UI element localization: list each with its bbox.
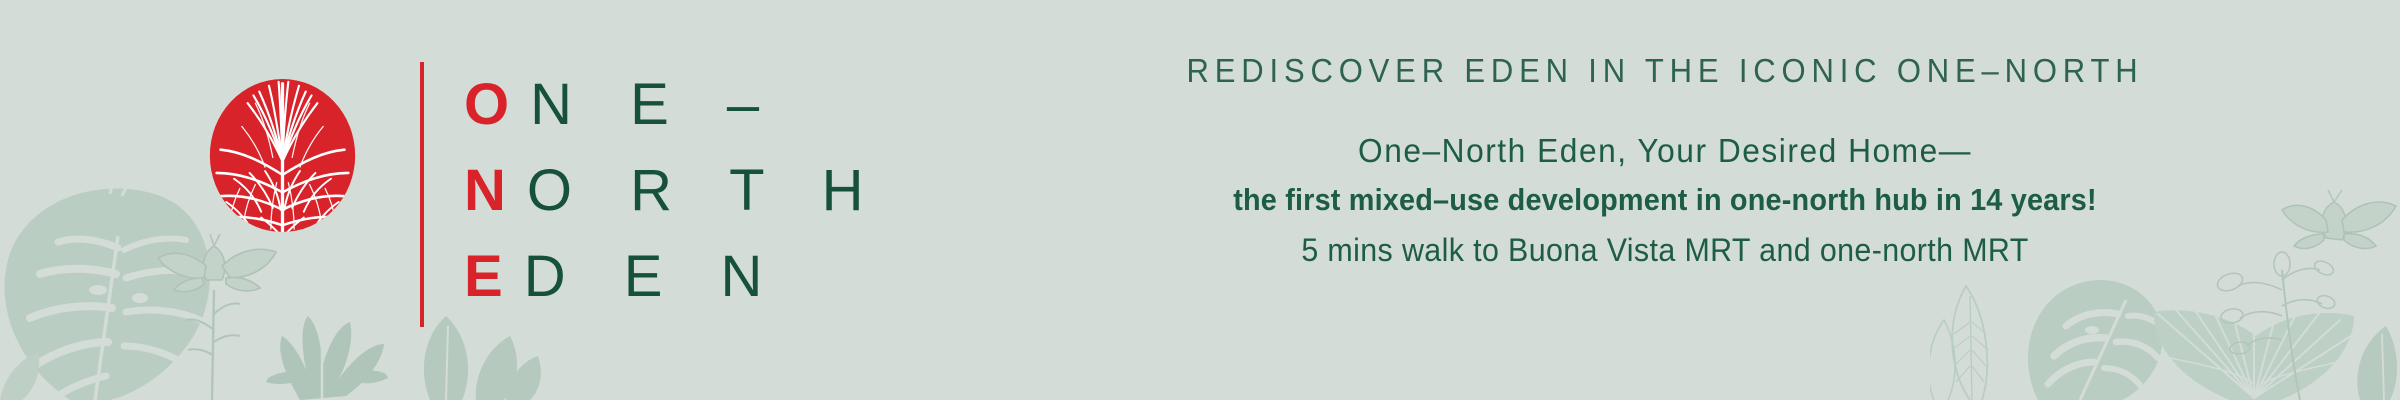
wordmark-rest-eden: D E N <box>524 244 784 309</box>
outline-leaf-icon <box>1952 286 1988 400</box>
outline-leaf-secondary-icon <box>1930 320 1955 400</box>
wordmark-line-north: NO R T H <box>464 148 884 234</box>
brand-logo-block: ON E – NO R T H ED E N <box>205 62 884 327</box>
fan-palm-leaf-icon <box>2154 306 2354 400</box>
promotional-banner: ON E – NO R T H ED E N REDISCOVER EDEN I… <box>0 0 2400 400</box>
one-north-eden-leaf-emblem-icon <box>205 78 360 233</box>
wordmark-initial-n: N <box>464 158 527 223</box>
wordmark-rest-one: N E – <box>530 72 780 137</box>
wordmark-initial-e: E <box>464 244 524 309</box>
palmate-leaf-icon <box>266 316 388 400</box>
wordmark-initial-o: O <box>464 72 530 137</box>
tagline-text: the first mixed–use development in one-n… <box>1065 182 2265 218</box>
logo-divider-rule <box>420 62 424 327</box>
monstera-leaf-right-icon <box>2028 280 2164 400</box>
monstera-leaf-icon <box>4 170 209 400</box>
headline-text: REDISCOVER EDEN IN THE ICONIC ONE–NORTH <box>1059 52 2272 90</box>
transport-text: 5 mins walk to Buona Vista MRT and one-n… <box>1052 232 2278 269</box>
edge-leaves-icon <box>2357 326 2397 400</box>
oval-leaves-icon <box>424 316 541 400</box>
marketing-copy-block: REDISCOVER EDEN IN THE ICONIC ONE–NORTH … <box>1020 52 2310 269</box>
wordmark-line-eden: ED E N <box>464 234 884 320</box>
wordmark-line-one: ON E – <box>464 62 884 148</box>
wordmark-rest-north: O R T H <box>527 158 885 223</box>
small-frond-icon <box>0 352 39 400</box>
brand-wordmark: ON E – NO R T H ED E N <box>464 62 884 320</box>
subhead-text: One–North Eden, Your Desired Home— <box>1046 132 2284 170</box>
